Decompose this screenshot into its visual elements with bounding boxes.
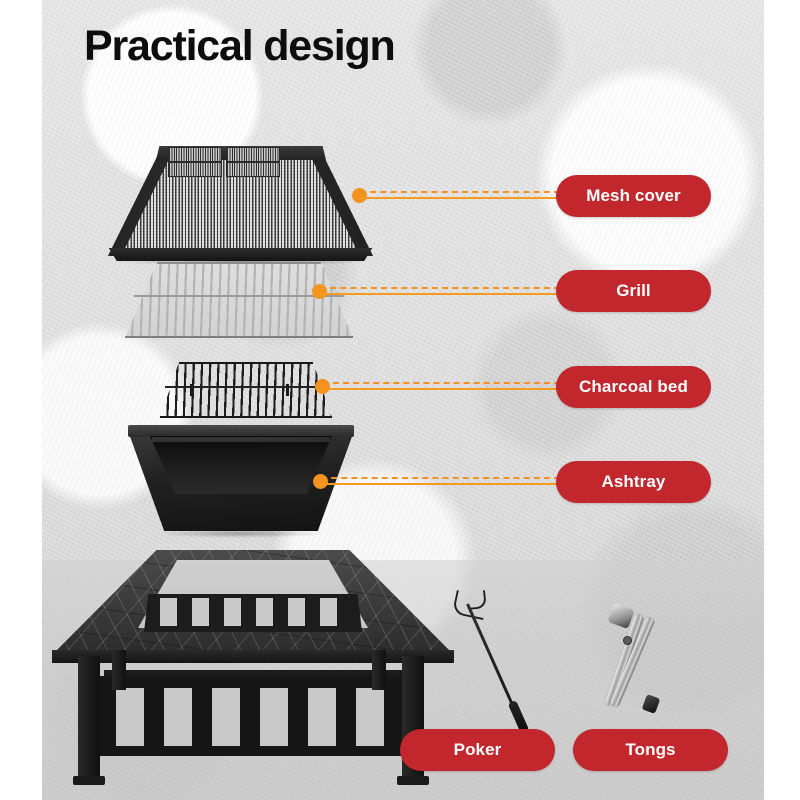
connector-dashed-line: [320, 287, 560, 289]
poker-rod: [466, 603, 517, 712]
connector-grill: [312, 287, 560, 297]
connector-solid-line: [323, 388, 560, 390]
table-side-slot: [164, 688, 192, 746]
grill-top-edge: [157, 262, 321, 264]
connector-mesh-cover: [352, 191, 560, 201]
fire-pit-table: [52, 538, 454, 788]
table-foot-right: [397, 776, 429, 785]
connector-dashed-line: [323, 382, 560, 384]
connector-ashtray: [313, 477, 560, 487]
table-inner-slot: [224, 598, 241, 626]
tongs-tip: [642, 694, 661, 714]
charcoal-bed-grate: [160, 362, 332, 418]
page-title: Practical design: [84, 25, 395, 68]
table-side-slot: [116, 688, 144, 746]
charcoal-bed-bottom-frame: [160, 416, 332, 418]
grill-grate: [125, 262, 353, 338]
callout-mesh-cover[interactable]: Mesh cover: [556, 175, 711, 217]
callout-ashtray[interactable]: Ashtray: [556, 461, 711, 503]
tongs-tool: [600, 606, 674, 718]
table-leg-front-left: [78, 656, 100, 778]
connector-solid-line: [321, 483, 560, 485]
table-inner-slot: [192, 598, 209, 626]
charcoal-bed-foot: [286, 384, 289, 396]
ashtray-rim: [128, 425, 354, 437]
table-leg-rear-right: [372, 650, 386, 690]
charcoal-bed-component: [160, 362, 332, 418]
mesh-cover-vent: [226, 162, 280, 177]
callout-poker[interactable]: Poker: [400, 729, 555, 771]
table-leg-rear-left: [112, 650, 126, 690]
ashtray-inner-highlight: [152, 437, 330, 442]
connector-solid-line: [360, 197, 560, 199]
charcoal-bed-foot: [190, 384, 193, 396]
charcoal-bed-top-frame: [179, 362, 313, 364]
mesh-cover-component: [108, 128, 373, 258]
connector-charcoal-bed: [315, 382, 560, 392]
connector-dashed-line: [321, 477, 560, 479]
table-inner-slot: [288, 598, 305, 626]
table-side-slot: [356, 688, 384, 746]
table-inner-slot: [320, 598, 337, 626]
connector-solid-line: [320, 293, 560, 295]
mesh-cover-vent: [168, 147, 222, 162]
table-inner-slot: [256, 598, 273, 626]
table-inner-slot: [160, 598, 177, 626]
grill-component: [125, 262, 353, 338]
mesh-cover-vent: [226, 147, 280, 162]
table-side-slot: [260, 688, 288, 746]
ashtray-interior: [150, 436, 332, 494]
table-side-slot: [212, 688, 240, 746]
callout-charcoal-bed[interactable]: Charcoal bed: [556, 366, 711, 408]
table-side-slot: [308, 688, 336, 746]
callout-grill[interactable]: Grill: [556, 270, 711, 312]
infographic-canvas: Practical design: [0, 0, 800, 800]
poker-tool: [448, 590, 564, 730]
mesh-cover-vent: [168, 162, 222, 177]
callout-tongs[interactable]: Tongs: [573, 729, 728, 771]
tongs-pivot: [623, 636, 632, 645]
ashtray-shadow: [156, 529, 326, 538]
connector-dashed-line: [360, 191, 560, 193]
table-brace: [104, 670, 404, 676]
table-foot-left: [73, 776, 105, 785]
grill-bottom-edge: [125, 336, 353, 339]
